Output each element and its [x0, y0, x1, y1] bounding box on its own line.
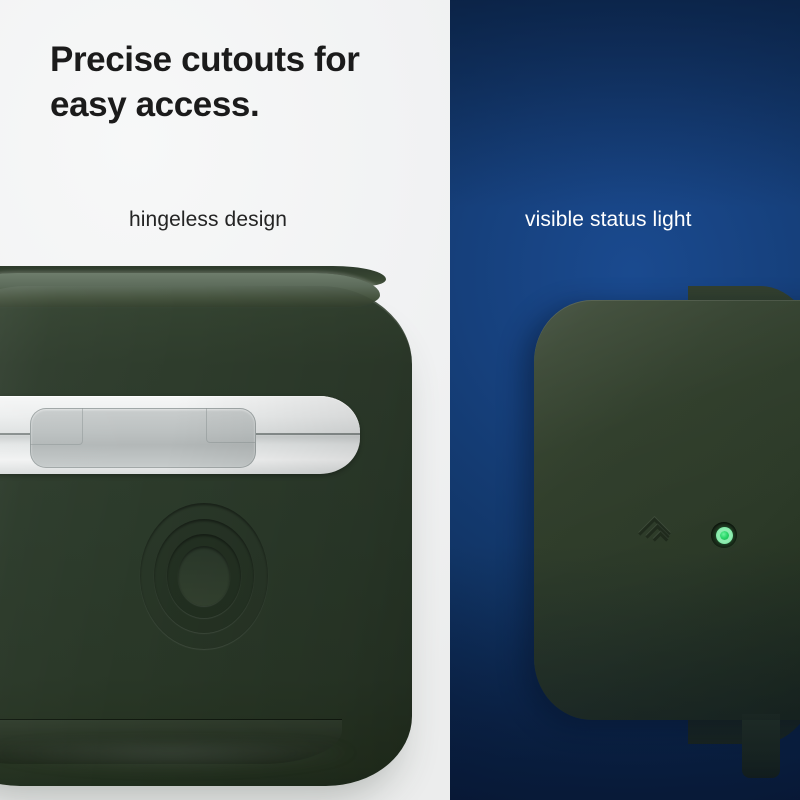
- status-light-cutout: [711, 522, 737, 548]
- hinge-notch-left: [30, 408, 83, 445]
- status-led-icon: [720, 531, 729, 540]
- left-panel: Precise cutouts for easy access. hingele…: [0, 0, 450, 800]
- airpods-case-front-lid: [534, 300, 800, 720]
- spigen-chevron-logo-icon: [640, 518, 674, 552]
- case-lid-edge-shadow: [529, 298, 800, 722]
- hinge-notch-right: [206, 408, 255, 443]
- page-title: Precise cutouts for easy access.: [50, 38, 430, 128]
- case-lid-sheen: [534, 300, 800, 720]
- right-panel: visible status light: [450, 0, 800, 800]
- status-light-glow: [716, 527, 733, 544]
- product-feature-image: Precise cutouts for easy access. hingele…: [0, 0, 800, 800]
- case-lid-tab: [742, 714, 780, 778]
- case-bottom-lip: [0, 719, 342, 764]
- left-panel-caption: hingeless design: [129, 208, 287, 232]
- case-lid-rim: [523, 293, 800, 727]
- right-panel-caption: visible status light: [525, 208, 692, 232]
- dimple-center: [178, 546, 230, 606]
- case-top-bevel: [0, 273, 380, 307]
- pairing-button-dimple: [140, 503, 268, 649]
- airpods-case-back-view: [0, 286, 412, 786]
